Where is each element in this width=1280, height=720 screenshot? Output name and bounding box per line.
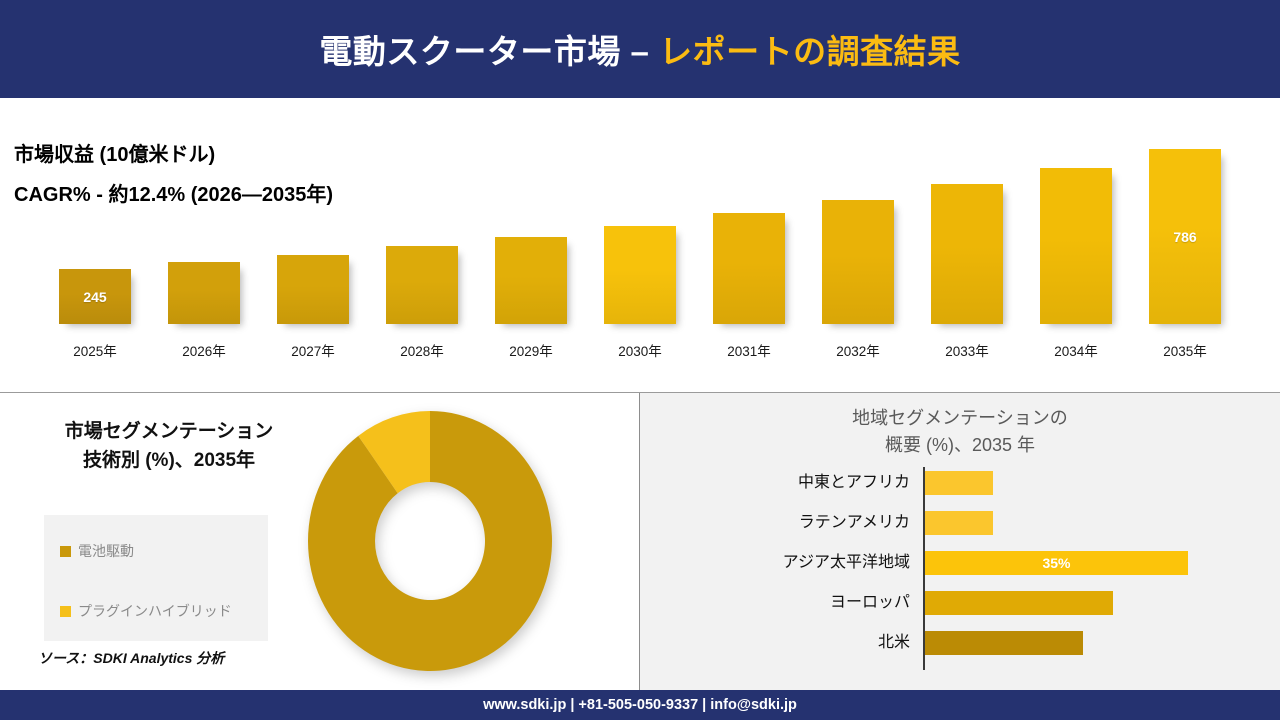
x-axis-label: 2034年 bbox=[1030, 340, 1122, 360]
regional-bar-北米 bbox=[925, 631, 1083, 655]
regional-bar-plot-area: 中東とアフリカラテンアメリカアジア太平洋地域35%ヨーロッパ北米 bbox=[640, 467, 1280, 679]
x-axis-label: 2030年 bbox=[594, 340, 686, 360]
technology-donut-chart bbox=[305, 409, 555, 674]
legend-swatch-icon bbox=[60, 606, 71, 617]
technology-title-line2: 技術別 (%)、2035年 bbox=[24, 446, 314, 475]
page-footer: www.sdki.jp | +81-505-050-9337 | info@sd… bbox=[0, 690, 1280, 720]
bar-column bbox=[168, 132, 240, 324]
x-axis-label: 2031年 bbox=[703, 340, 795, 360]
bar-2030年 bbox=[604, 226, 676, 324]
regional-bar-ラテンアメリカ bbox=[925, 511, 993, 535]
x-axis-label: 2029年 bbox=[485, 340, 577, 360]
technology-title-line1: 市場セグメンテーション bbox=[24, 417, 314, 446]
bar-column bbox=[931, 132, 1003, 324]
bar-2026年 bbox=[168, 262, 240, 324]
regional-bar-row: アジア太平洋地域35% bbox=[640, 551, 1280, 575]
bar-chart-plot-area: 245786 2025年2026年2027年2028年2029年2030年203… bbox=[40, 132, 1240, 360]
bar-2027年 bbox=[277, 255, 349, 324]
regional-bar-row: 北米 bbox=[640, 631, 1280, 655]
page-title-main: 電動スクーター市場 – bbox=[319, 33, 649, 70]
bar-column: 245 bbox=[59, 132, 131, 324]
bar-2028年 bbox=[386, 246, 458, 324]
bar-2032年 bbox=[822, 200, 894, 324]
x-axis-label: 2027年 bbox=[267, 340, 359, 360]
bar-2034年 bbox=[1040, 168, 1112, 324]
regional-bar-中東とアフリカ bbox=[925, 471, 993, 495]
legend-item-battery: 電池駆動 bbox=[60, 541, 134, 561]
bar-column bbox=[277, 132, 349, 324]
x-axis-label: 2025年 bbox=[49, 340, 141, 360]
regional-bar-label: ヨーロッパ bbox=[640, 591, 910, 615]
bar-column bbox=[386, 132, 458, 324]
x-axis-label: 2033年 bbox=[921, 340, 1013, 360]
regional-segmentation-section: 地域セグメンテーションの 概要 (%)、2035 年 中東とアフリカラテンアメリ… bbox=[640, 393, 1280, 690]
technology-segmentation-section: 市場セグメンテーション 技術別 (%)、2035年 電池駆動 プラグインハイブリ… bbox=[0, 393, 639, 690]
bar-2029年 bbox=[495, 237, 567, 324]
bar-2031年 bbox=[713, 213, 785, 324]
regional-bar-row: ラテンアメリカ bbox=[640, 511, 1280, 535]
regional-bar-ヨーロッパ bbox=[925, 591, 1113, 615]
bar-column bbox=[713, 132, 785, 324]
source-note: ソース：SDKI Analytics 分析 bbox=[38, 648, 224, 668]
bar-column bbox=[822, 132, 894, 324]
bar-2025年: 245 bbox=[59, 269, 131, 324]
page-title-accent: レポートの調査結果 bbox=[659, 33, 961, 70]
bar-2035年: 786 bbox=[1149, 149, 1221, 324]
footer-contact-text: www.sdki.jp | +81-505-050-9337 | info@sd… bbox=[483, 697, 797, 713]
regional-segmentation-title: 地域セグメンテーションの 概要 (%)、2035 年 bbox=[640, 405, 1280, 459]
infographic-page: 電動スクーター市場 – レポートの調査結果 市場収益 (10億米ドル) CAGR… bbox=[0, 0, 1280, 720]
regional-bar-label: アジア太平洋地域 bbox=[640, 551, 910, 575]
regional-bar-row: ヨーロッパ bbox=[640, 591, 1280, 615]
regional-title-line1: 地域セグメンテーションの bbox=[640, 405, 1280, 432]
donut-svg bbox=[305, 409, 555, 674]
x-axis-label: 2026年 bbox=[158, 340, 250, 360]
bar-column: 786 bbox=[1149, 132, 1221, 324]
page-title: 電動スクーター市場 – レポートの調査結果 bbox=[319, 25, 960, 73]
legend-swatch-icon bbox=[60, 546, 71, 557]
legend-item-label: プラグインハイブリッド bbox=[78, 601, 232, 621]
x-axis-label: 2028年 bbox=[376, 340, 468, 360]
x-axis-label: 2032年 bbox=[812, 340, 904, 360]
regional-bar-row: 中東とアフリカ bbox=[640, 471, 1280, 495]
market-revenue-section: 市場収益 (10億米ドル) CAGR% - 約12.4% (2026―2035年… bbox=[0, 102, 1280, 391]
regional-bar-label: ラテンアメリカ bbox=[640, 511, 910, 535]
regional-bar-value-label: 35% bbox=[925, 551, 1188, 575]
bar-value-label: 245 bbox=[59, 289, 131, 305]
x-axis-label: 2035年 bbox=[1139, 340, 1231, 360]
regional-bar-アジア太平洋地域: 35% bbox=[925, 551, 1188, 575]
bar-series: 245786 bbox=[40, 132, 1240, 324]
bar-column bbox=[604, 132, 676, 324]
regional-bar-label: 北米 bbox=[640, 631, 910, 655]
technology-legend: 電池駆動 プラグインハイブリッド bbox=[44, 515, 268, 641]
bar-column bbox=[1040, 132, 1112, 324]
regional-bar-label: 中東とアフリカ bbox=[640, 471, 910, 495]
legend-item-plugin-hybrid: プラグインハイブリッド bbox=[60, 601, 232, 621]
technology-segmentation-title: 市場セグメンテーション 技術別 (%)、2035年 bbox=[24, 417, 314, 476]
regional-title-line2: 概要 (%)、2035 年 bbox=[640, 432, 1280, 459]
bar-2033年 bbox=[931, 184, 1003, 324]
bar-column bbox=[495, 132, 567, 324]
bar-value-label: 786 bbox=[1149, 229, 1221, 245]
page-header: 電動スクーター市場 – レポートの調査結果 bbox=[0, 0, 1280, 98]
legend-item-label: 電池駆動 bbox=[78, 541, 134, 561]
